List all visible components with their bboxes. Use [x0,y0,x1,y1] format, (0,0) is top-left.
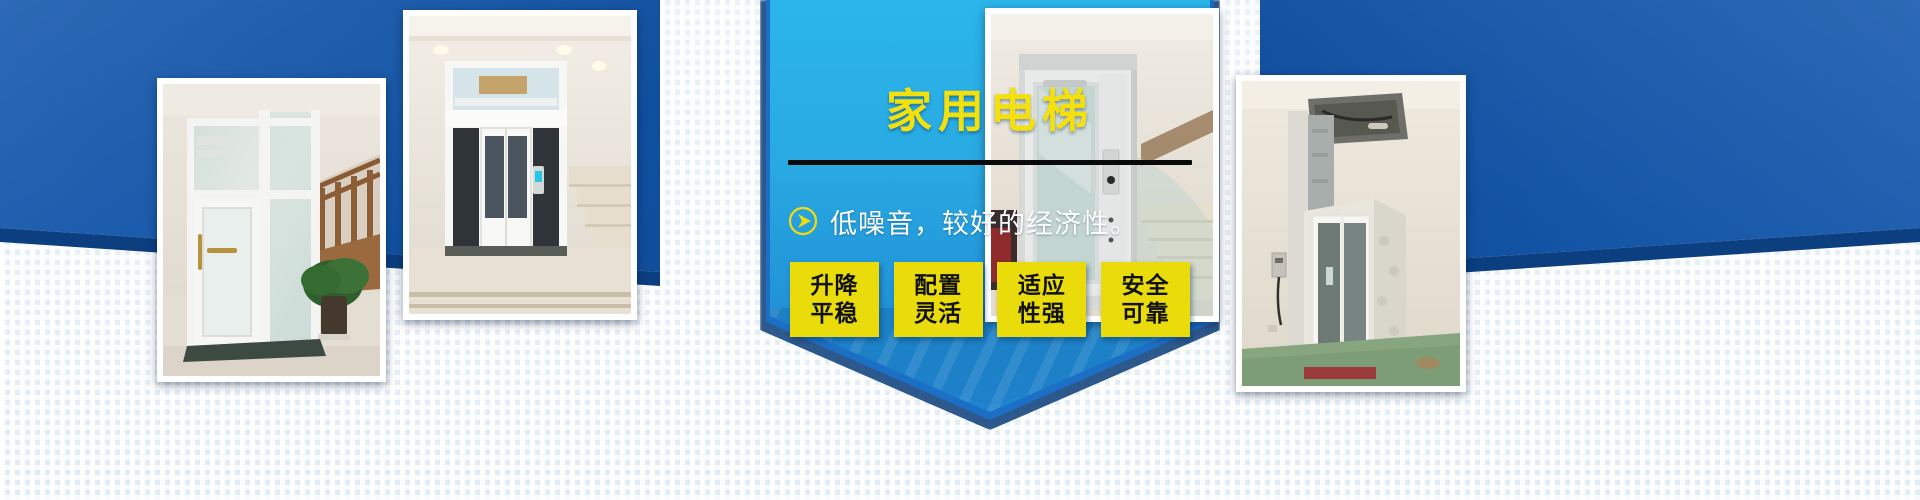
photo-frame-inner [409,16,631,314]
feature-tag[interactable]: 适应 性强 [997,262,1086,337]
photo-artwork [163,84,380,376]
photo-white-elevator-lobby [403,10,637,320]
title-divider [788,160,1192,165]
photo-frame-inner [163,84,380,376]
feature-tag-line1: 升降 [811,272,859,299]
page-title: 家用电梯 [770,88,1210,134]
circled-play-arrow-icon [788,206,818,236]
photo-glass-elevator-stairs [157,78,386,382]
feature-tag-line1: 配置 [914,272,962,299]
feature-tag[interactable]: 升降 平稳 [790,262,879,337]
feature-tag[interactable]: 安全 可靠 [1101,262,1190,337]
home-elevator-banner: 家用电梯 低噪音，较好的经济性。 升降 平稳 配置 灵活 适应 性强 [0,0,1920,500]
feature-tag-line2: 性强 [1018,300,1066,327]
photo-installed-elevator-room [1236,75,1466,392]
photo-frame-inner [1242,81,1460,386]
photo-artwork [409,16,631,314]
subtitle-row: 低噪音，较好的经济性。 [788,200,1192,242]
feature-tag-list: 升降 平稳 配置 灵活 适应 性强 安全 可靠 [790,262,1190,337]
feature-tag-line1: 安全 [1121,272,1169,299]
center-content: 家用电梯 低噪音，较好的经济性。 升降 平稳 配置 灵活 适应 性强 [770,0,1210,412]
feature-tag-line2: 平稳 [811,300,859,327]
photo-artwork [1242,81,1460,386]
subtitle-text: 低噪音，较好的经济性。 [830,202,1138,241]
feature-tag[interactable]: 配置 灵活 [894,262,983,337]
feature-tag-line2: 可靠 [1121,300,1169,327]
feature-tag-line2: 灵活 [914,300,962,327]
feature-tag-line1: 适应 [1018,272,1066,299]
